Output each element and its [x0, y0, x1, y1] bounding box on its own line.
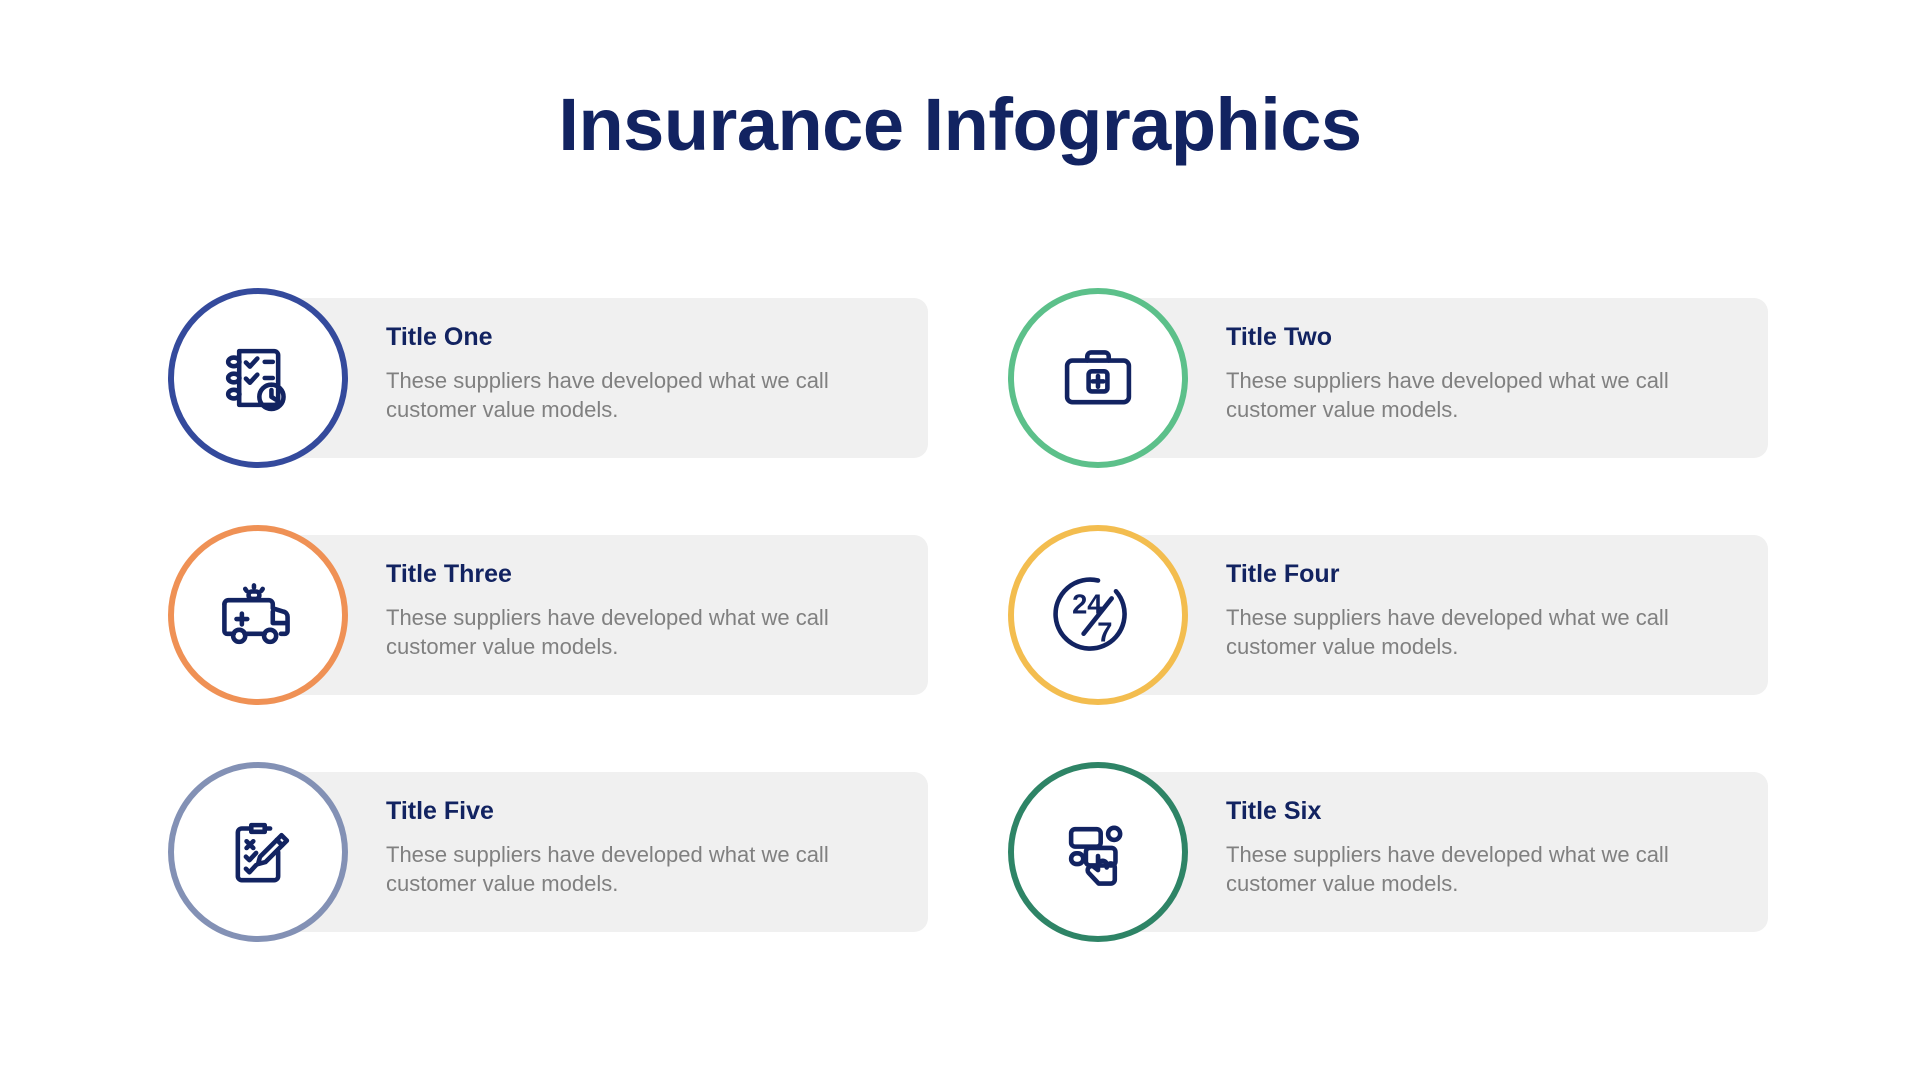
card-icon-badge: [1008, 288, 1188, 468]
card-description: These suppliers have developed what we c…: [1226, 366, 1706, 425]
card-title: Title Four: [1226, 561, 1726, 589]
card-text: Title Four These suppliers have develope…: [1226, 561, 1726, 661]
card-icon-badge: 24 7: [1008, 525, 1188, 705]
card-description: These suppliers have developed what we c…: [386, 840, 866, 899]
info-card[interactable]: Title Two These suppliers have developed…: [1008, 288, 1768, 468]
slide-canvas: Insurance Infographics Title One These s…: [0, 0, 1920, 1080]
twenty-four-seven-icon: 24 7: [1052, 569, 1144, 661]
click-select-icon: [1055, 809, 1141, 895]
card-description: These suppliers have developed what we c…: [1226, 840, 1706, 899]
info-card[interactable]: Title Five These suppliers have develope…: [168, 762, 928, 942]
card-text: Title One These suppliers have developed…: [386, 324, 886, 424]
card-title: Title One: [386, 324, 886, 352]
card-text: Title Three These suppliers have develop…: [386, 561, 886, 661]
clipboard-pencil-icon: [215, 809, 301, 895]
card-title: Title Five: [386, 798, 886, 826]
card-description: These suppliers have developed what we c…: [1226, 603, 1706, 662]
ambulance-icon: [215, 572, 301, 658]
card-icon-badge: [168, 762, 348, 942]
card-icon-badge: [168, 288, 348, 468]
card-text: Title Two These suppliers have developed…: [1226, 324, 1726, 424]
card-title: Title Two: [1226, 324, 1726, 352]
info-card[interactable]: Title Six These suppliers have developed…: [1008, 762, 1768, 942]
info-card[interactable]: 24 7 Title Four These suppliers have dev…: [1008, 525, 1768, 705]
info-card[interactable]: Title One These suppliers have developed…: [168, 288, 928, 468]
checklist-clock-icon: [215, 335, 301, 421]
first-aid-kit-icon: [1055, 335, 1141, 421]
card-icon-badge: [168, 525, 348, 705]
card-title: Title Three: [386, 561, 886, 589]
cards-grid: Title One These suppliers have developed…: [168, 288, 1768, 942]
svg-text:7: 7: [1097, 617, 1112, 648]
card-text: Title Six These suppliers have developed…: [1226, 798, 1726, 898]
page-title: Insurance Infographics: [0, 86, 1920, 164]
svg-text:24: 24: [1072, 589, 1103, 620]
card-description: These suppliers have developed what we c…: [386, 603, 866, 662]
info-card[interactable]: Title Three These suppliers have develop…: [168, 525, 928, 705]
card-title: Title Six: [1226, 798, 1726, 826]
card-description: These suppliers have developed what we c…: [386, 366, 866, 425]
card-icon-badge: [1008, 762, 1188, 942]
card-text: Title Five These suppliers have develope…: [386, 798, 886, 898]
